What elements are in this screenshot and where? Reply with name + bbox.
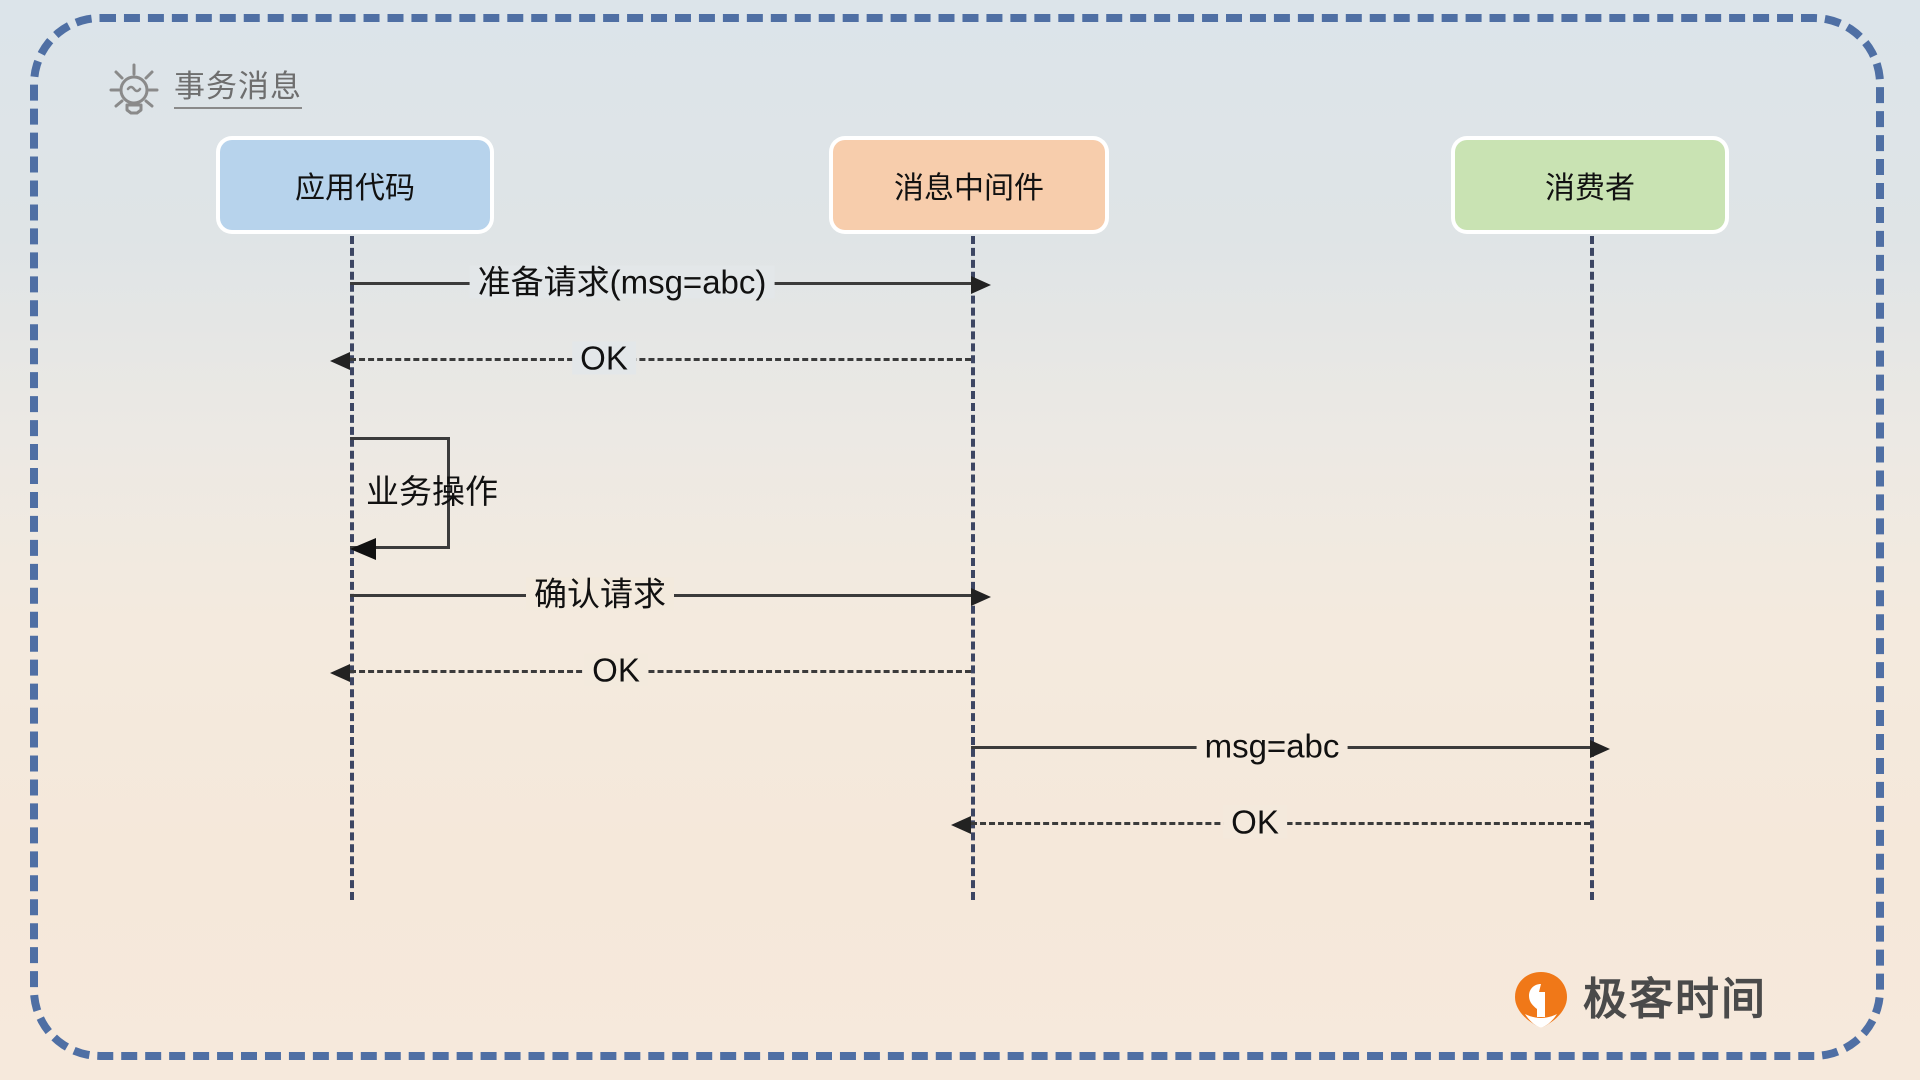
diagram-title-group: 事务消息 (108, 62, 302, 118)
lifeline-app-code (350, 236, 354, 900)
brand-logo: 极客时间 (1513, 970, 1767, 1030)
participant-label: 消费者 (1545, 163, 1635, 207)
arrowhead-right-icon (1590, 740, 1610, 758)
message-label-prepare-request: 准备请求(msg=abc) (470, 266, 775, 299)
lifeline-message-middleware (971, 236, 975, 900)
participant-box-message-middleware[interactable]: 消息中间件 (833, 140, 1105, 230)
lifeline-consumer (1590, 236, 1594, 900)
message-label-business-operation: 业务操作 (366, 475, 498, 508)
arrowhead-left-icon (350, 538, 376, 560)
arrowhead-left-icon (330, 352, 350, 370)
message-arrow-ok-1[interactable] (350, 358, 971, 361)
brand-logo-text: 极客时间 (1583, 978, 1767, 1022)
page-title: 事务消息 (174, 71, 302, 109)
message-label-ok-1: OK (572, 342, 636, 375)
message-label-msg-abc: msg=abc (1197, 730, 1348, 763)
message-label-confirm-request: 确认请求 (526, 578, 674, 611)
message-label-ok-3: OK (1223, 806, 1287, 839)
lightbulb-icon (108, 62, 160, 118)
message-arrow-ok-2[interactable] (350, 670, 971, 673)
arrowhead-right-icon (971, 276, 991, 294)
participant-box-app-code[interactable]: 应用代码 (220, 140, 490, 230)
arrowhead-left-icon (330, 664, 350, 682)
diagram-canvas: 事务消息 应用代码 消息中间件 消费者 准备请求(msg=abc) OK 业务操… (0, 0, 1920, 1080)
message-label-ok-2: OK (584, 654, 648, 687)
geektime-mark-icon (1513, 970, 1569, 1030)
participant-box-consumer[interactable]: 消费者 (1455, 140, 1725, 230)
participant-label: 消息中间件 (894, 163, 1044, 207)
arrowhead-left-icon (951, 816, 971, 834)
arrowhead-right-icon (971, 588, 991, 606)
participant-label: 应用代码 (295, 163, 415, 207)
